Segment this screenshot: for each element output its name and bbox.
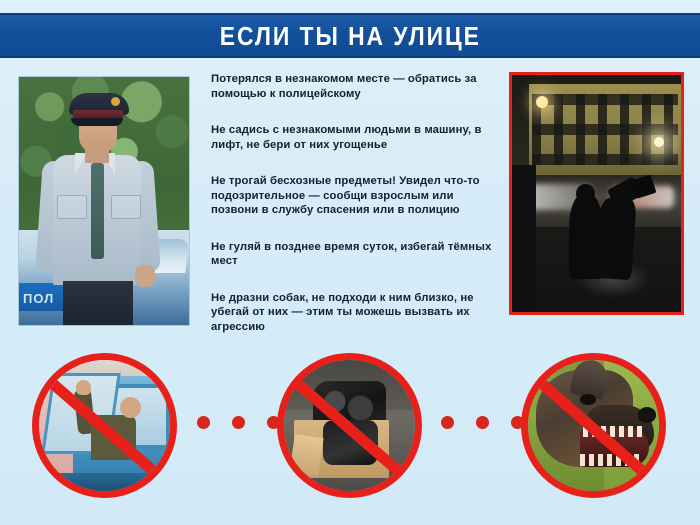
rule-night: Не гуляй в позднее время суток, избегай … <box>211 240 496 269</box>
cardboard-box-flap <box>289 434 323 477</box>
rule-objects: Не трогай бесхозные предметы! Увидел что… <box>211 174 496 218</box>
officer-hand <box>135 265 155 287</box>
dog-nose <box>638 407 656 423</box>
attacker-silhouette <box>594 197 637 280</box>
officer-pocket-left <box>57 195 87 219</box>
night-street-attack-photo <box>509 72 684 315</box>
rule-dogs: Не дразни собак, не подходи к ним близко… <box>211 291 496 335</box>
street-lamp-icon <box>536 96 548 108</box>
prohibition-aggressive-dog <box>521 353 666 498</box>
police-officer-photo: ПОЛ <box>18 76 190 326</box>
stranger-head <box>120 397 141 418</box>
officer-cap-badge <box>111 97 120 106</box>
separator-dot <box>441 416 454 429</box>
street-light-glare-icon <box>654 137 664 147</box>
officer-necktie <box>91 163 104 259</box>
officer-cap-peak <box>71 118 123 126</box>
dot-separator-left <box>197 416 280 429</box>
separator-dot <box>476 416 489 429</box>
stranger-beckoning-hand <box>76 380 92 396</box>
rule-lost: Потерялся в незнакомом месте — обратись … <box>211 72 496 101</box>
rules-text-column: Потерялся в незнакомом месте — обратись … <box>211 72 496 334</box>
safety-poster: ЕСЛИ ТЫ НА УЛИЦЕ ПОЛ Потерялся в незнако… <box>0 0 700 525</box>
prohibition-stranger-car <box>32 353 177 498</box>
officer-trousers <box>63 281 133 326</box>
rule-strangers: Не садись с незнакомыми людьми в машину,… <box>211 123 496 152</box>
dog-eye <box>580 394 596 404</box>
street-pillar <box>512 165 536 312</box>
patrol-car-label: ПОЛ <box>23 291 54 306</box>
building-windows <box>532 94 677 165</box>
officer-pocket-right <box>111 195 141 219</box>
page-title: ЕСЛИ ТЫ НА УЛИЦЕ <box>219 23 480 49</box>
prohibition-unattended-package <box>277 353 422 498</box>
dot-separator-right <box>441 416 524 429</box>
separator-dot <box>197 416 210 429</box>
header-banner: ЕСЛИ ТЫ НА УЛИЦЕ <box>0 13 700 58</box>
separator-dot <box>232 416 245 429</box>
